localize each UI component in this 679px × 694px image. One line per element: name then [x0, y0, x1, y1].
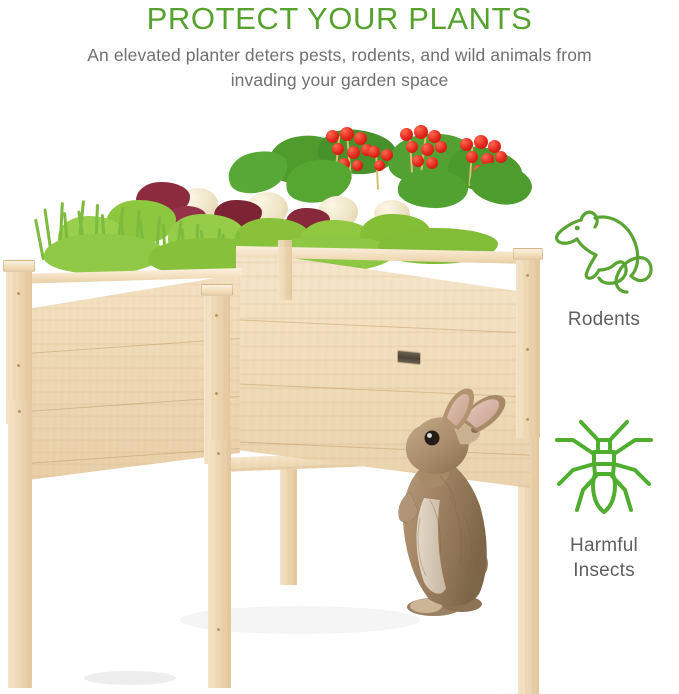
rabbit	[368, 368, 518, 618]
feature-label-rodents: Rodents	[529, 307, 679, 332]
feature-harmful-insects: Harmful Insects	[529, 418, 679, 583]
header: PROTECT YOUR PLANTS An elevated planter …	[0, 0, 679, 93]
feature-list: Rodents	[529, 200, 679, 583]
feature-rodents: Rodents	[529, 200, 679, 332]
planter-post-cap-middle	[201, 284, 233, 296]
planter-leg-front-left	[8, 400, 32, 688]
page-title: PROTECT YOUR PLANTS	[0, 2, 679, 35]
planter-post-back	[278, 240, 292, 300]
page-subtitle: An elevated planter deters pests, rodent…	[75, 43, 605, 93]
feature-label-line-2: Insects	[529, 558, 679, 583]
planter-post-middle	[204, 288, 230, 464]
feature-label-line-1: Harmful	[529, 533, 679, 558]
product-photo	[0, 100, 560, 694]
planter-leg-front-right	[208, 440, 231, 688]
product-feature-image: PROTECT YOUR PLANTS An elevated planter …	[0, 0, 679, 694]
rabbit-eye	[425, 431, 440, 446]
front-foliage	[44, 234, 164, 274]
planter-post-cap-left	[3, 260, 35, 272]
brand-nameplate	[398, 351, 420, 364]
rodent-icon	[551, 200, 657, 296]
feature-label-harmful-insects: Harmful Insects	[529, 533, 679, 583]
insect-icon	[551, 418, 657, 522]
